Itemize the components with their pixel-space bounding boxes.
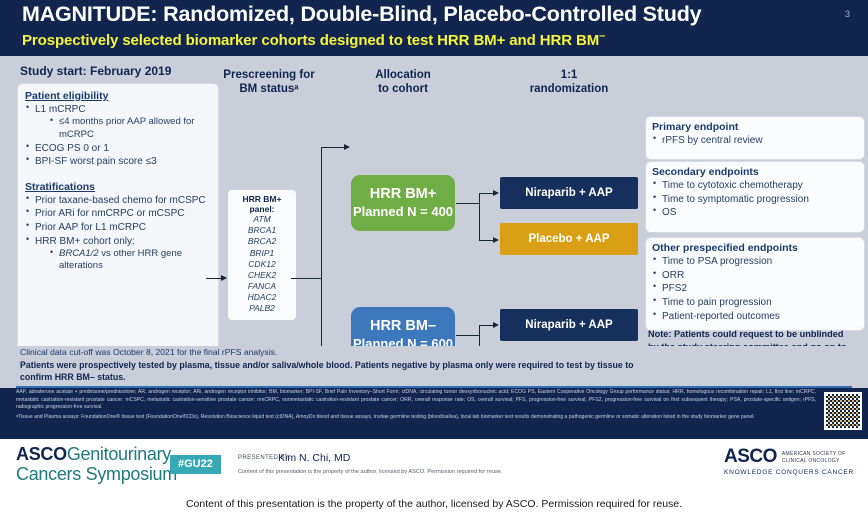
- list-item: ≤4 months prior AAP allowed for mCRPC: [49, 116, 211, 141]
- list-item: OS: [652, 206, 858, 219]
- hrr-gene-panel: HRR BM+ panel: ATM BRCA1 BRCA2 BRIP1 CDK…: [228, 190, 296, 320]
- conference-name-line2: Cancers Symposium: [16, 464, 177, 484]
- eligibility-stratification-panel: Patient eligibility L1 mCRPC ≤4 months p…: [18, 84, 218, 351]
- primary-endpoint-panel: Primary endpoint rPFS by central review: [646, 117, 864, 159]
- connector-to-cohort-pos: [321, 147, 345, 148]
- hashtag-badge[interactable]: #GU22: [170, 455, 221, 474]
- list-item: Prior AAP for L1 mCRPC: [25, 221, 211, 234]
- list-item: Prior ARi for nmCRPC or mCSPC: [25, 207, 211, 220]
- primary-endpoint-list: rPFS by central review: [652, 134, 858, 147]
- arrowhead-arm3: [493, 322, 499, 328]
- cohort-pos-label: HRR BM+: [370, 186, 436, 204]
- list-item: PFS2: [652, 282, 858, 295]
- list-item: ECOG PS 0 or 1: [25, 142, 211, 155]
- asco-society-wordmark: ASCO: [724, 447, 777, 466]
- gene-panel-head-line1: HRR BM+: [231, 194, 293, 204]
- list-item: BPI-SF worst pain score ≤3: [25, 155, 211, 168]
- other-endpoints-panel: Other prespecified endpoints Time to PSA…: [646, 238, 864, 330]
- eligibility-sublist: ≤4 months prior AAP allowed for mCRPC: [35, 116, 211, 141]
- gene-item: BRIP1: [231, 248, 293, 259]
- secondary-endpoints-list: Time to cytotoxic chemotherapy Time to s…: [652, 179, 858, 220]
- arrowhead-arm2: [493, 237, 499, 243]
- gene-item: BRCA1: [231, 225, 293, 236]
- secondary-endpoints-panel: Secondary endpoints Time to cytotoxic ch…: [646, 162, 864, 232]
- gene-item: ATM: [231, 214, 293, 225]
- diagram-area: Study start: February 2019 Prescreening …: [0, 56, 868, 346]
- abbreviations-area: AAP, abiraterone acetate + prednisone/pr…: [0, 388, 868, 437]
- connector-panel-stem: [291, 278, 322, 279]
- page-caption: Content of this presentation is the prop…: [0, 489, 868, 519]
- secondary-endpoints-title: Secondary endpoints: [652, 166, 858, 178]
- gene-item: BRCA2: [231, 236, 293, 247]
- list-item: L1 mCRPC ≤4 months prior AAP allowed for…: [25, 103, 211, 141]
- primary-endpoint-title: Primary endpoint: [652, 121, 858, 133]
- study-start-label: Study start: February 2019: [20, 64, 171, 78]
- gene-list: ATM BRCA1 BRCA2 BRIP1 CDK12 CHEK2 FANCA …: [231, 214, 293, 313]
- column-header-prescreening-line2: BM statusᵃ: [214, 82, 324, 96]
- column-header-allocation-line2: to cohort: [345, 82, 461, 96]
- gene-item: HDAC2: [231, 292, 293, 303]
- list-item: Time to cytotoxic chemotherapy: [652, 179, 858, 192]
- stratifications-list: Prior taxane-based chemo for mCSPC Prior…: [25, 194, 211, 273]
- abbreviations-text: AAP, abiraterone acetate + prednisone/pr…: [16, 389, 816, 412]
- asco-society-logo: ASCO AMERICAN SOCIETY OF CLINICAL ONCOLO…: [724, 447, 854, 476]
- asco-society-name-line1: AMERICAN SOCIETY OF: [782, 451, 846, 457]
- treatment-arm-niraparib-neg: Niraparib + AAP: [500, 309, 638, 341]
- page-subtitle: Prospectively selected biomarker cohorts…: [22, 30, 605, 49]
- other-endpoints-list: Time to PSA progression ORR PFS2 Time to…: [652, 255, 858, 323]
- data-cutoff-text: Clinical data cut-off was October 8, 202…: [20, 347, 277, 357]
- presenter-name: Kim N. Chi, MD: [278, 452, 350, 464]
- testing-footnote-text: Patients were prospectively tested by pl…: [20, 360, 636, 384]
- list-item: Patient-reported outcomes: [652, 310, 858, 323]
- list-item: BRCA1/2 vs other HRR gene alterations: [49, 248, 211, 273]
- gene-item: CDK12: [231, 259, 293, 270]
- slide: MAGNITUDE: Randomized, Double-Blind, Pla…: [0, 0, 868, 489]
- gene-item: PALB2: [231, 303, 293, 314]
- patient-eligibility-list: L1 mCRPC ≤4 months prior AAP allowed for…: [25, 103, 211, 169]
- list-item: HRR BM+ cohort only: BRCA1/2 vs other HR…: [25, 235, 211, 273]
- connector-eligibility-to-panel: [206, 278, 222, 279]
- cutoff-footnote-area: Clinical data cut-off was October 8, 202…: [0, 346, 868, 388]
- footer-license-text: Content of this presentation is the prop…: [238, 469, 502, 475]
- gene-panel-head-line2: panel:: [231, 204, 293, 214]
- gene-item: FANCA: [231, 281, 293, 292]
- asco-tagline: KNOWLEDGE CONQUERS CANCER: [724, 469, 854, 476]
- arrowhead-arm1: [493, 190, 499, 196]
- column-header-allocation-line1: Allocation: [345, 68, 461, 82]
- list-item: Time to pain progression: [652, 296, 858, 309]
- footer-bar: ASCOGenitourinary Cancers Symposium #GU2…: [0, 437, 868, 489]
- treatment-arm-placebo-pos: Placebo + AAP: [500, 223, 638, 255]
- connector-pos-vertical: [479, 193, 480, 241]
- list-item: rPFS by central review: [652, 134, 858, 147]
- subtitle-text: Prospectively selected biomarker cohorts…: [22, 32, 599, 49]
- qr-code-icon[interactable]: [824, 392, 862, 430]
- brca-gene-label: BRCA1/2: [59, 248, 99, 259]
- slide-header: MAGNITUDE: Randomized, Double-Blind, Pla…: [0, 0, 868, 56]
- cohort-pos-planned-n: Planned N = 400: [353, 204, 453, 220]
- asco-society-name-line2: CLINICAL ONCOLOGY: [782, 458, 840, 464]
- asco-conference-logo: ASCOGenitourinary Cancers Symposium: [16, 445, 177, 485]
- list-item: Time to symptomatic progression: [652, 193, 858, 206]
- column-header-allocation: Allocation to cohort: [345, 68, 461, 97]
- arrowhead-cohort-pos: [344, 144, 350, 150]
- stratification-item-3: HRR BM+ cohort only:: [35, 236, 135, 247]
- conference-name-line1: Genitourinary: [67, 444, 171, 464]
- cohort-neg-label: HRR BM–: [370, 318, 436, 336]
- connector-pos-to-arm1: [479, 193, 494, 194]
- column-header-prescreening-line1: Prescreening for: [214, 68, 324, 82]
- arrowhead-to-panel: [221, 275, 227, 281]
- patient-eligibility-title: Patient eligibility: [25, 90, 211, 102]
- list-item: Prior taxane-based chemo for mCSPC: [25, 194, 211, 207]
- subtitle-minus-superscript: –: [599, 30, 605, 42]
- asco-society-name: AMERICAN SOCIETY OF CLINICAL ONCOLOGY: [782, 451, 846, 465]
- other-endpoints-title: Other prespecified endpoints: [652, 242, 858, 254]
- column-header-prescreening: Prescreening for BM statusᵃ: [214, 68, 324, 97]
- list-item: ORR: [652, 269, 858, 282]
- asco-wordmark: ASCO: [16, 444, 67, 464]
- gene-item: CHEK2: [231, 270, 293, 281]
- list-item: Time to PSA progression: [652, 255, 858, 268]
- stratifications-title: Stratifications: [25, 181, 211, 193]
- connector-pos-to-arm2: [479, 240, 494, 241]
- column-header-randomization: 1:1 randomization: [498, 68, 640, 97]
- column-header-randomization-line2: randomization: [498, 82, 640, 96]
- connector-neg-stem: [456, 335, 480, 336]
- title-reference-superscript: 3: [845, 9, 850, 19]
- treatment-arm-niraparib-pos: Niraparib + AAP: [500, 177, 638, 209]
- eligibility-item-0: L1 mCRPC: [35, 104, 86, 115]
- stratification-sublist: BRCA1/2 vs other HRR gene alterations: [35, 248, 211, 273]
- assays-footnote-text: ᵃTissue and Plasma assays: FoundationOne…: [16, 414, 816, 422]
- connector-pos-stem: [456, 203, 480, 204]
- column-header-randomization-line1: 1:1: [498, 68, 640, 82]
- connector-neg-to-arm3: [479, 325, 494, 326]
- connector-split-up: [321, 147, 322, 279]
- page-title: MAGNITUDE: Randomized, Double-Blind, Pla…: [22, 2, 701, 27]
- cohort-box-hrr-bm-positive: HRR BM+ Planned N = 400: [351, 175, 455, 231]
